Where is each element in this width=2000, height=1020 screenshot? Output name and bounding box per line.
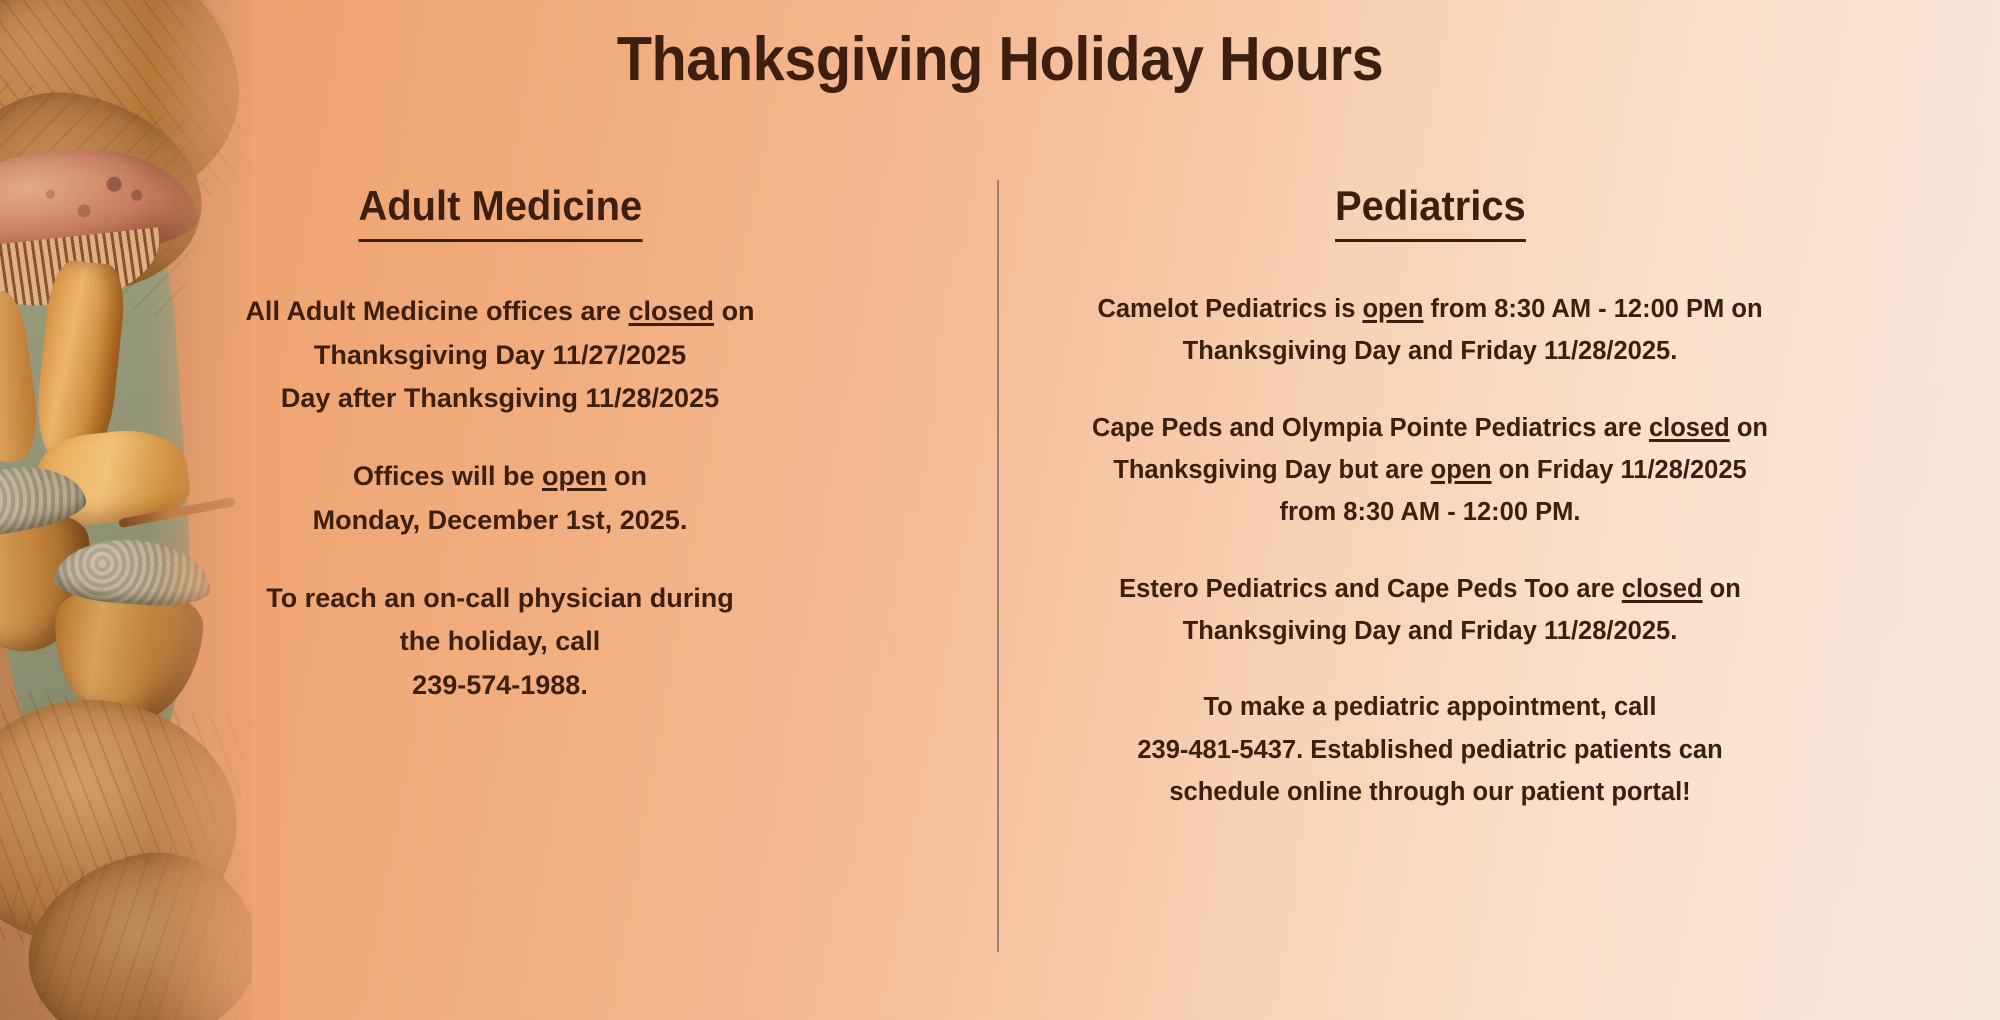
text-run: on [1703, 575, 1741, 603]
paragraph: Estero Pediatrics and Cape Peds Too are … [1030, 568, 1830, 653]
emphasis-text: open [1362, 295, 1423, 323]
adult-medicine-column: Adult Medicine All Adult Medicine office… [170, 182, 830, 708]
adult-medicine-body: All Adult Medicine offices are closed on… [170, 290, 830, 708]
emphasis-text: closed [1622, 575, 1703, 603]
column-divider [997, 180, 999, 952]
paragraph: Offices will be open onMonday, December … [170, 455, 830, 542]
text-run: 239-574-1988. [412, 670, 588, 700]
pediatrics-heading: Pediatrics [1335, 182, 1526, 242]
text-run: on [714, 296, 755, 326]
text-run: Thanksgiving Day and Friday 11/28/2025. [1183, 337, 1678, 365]
text-run: on [607, 461, 648, 491]
emphasis-text: open [542, 461, 607, 491]
text-run: Day after Thanksgiving 11/28/2025 [281, 383, 719, 413]
page-title: Thanksgiving Holiday Hours [70, 24, 1930, 95]
text-run: Offices will be [353, 461, 542, 491]
text-run: the holiday, call [400, 626, 601, 656]
paragraph: To reach an on-call physician duringthe … [170, 577, 830, 708]
text-run: on [1730, 414, 1768, 442]
pediatrics-column: Pediatrics Camelot Pediatrics is open fr… [1030, 182, 1830, 813]
text-run: Thanksgiving Day and Friday 11/28/2025. [1183, 617, 1678, 645]
emphasis-text: open [1431, 456, 1492, 484]
text-run: schedule online through our patient port… [1169, 778, 1690, 806]
text-run: from 8:30 AM - 12:00 PM on [1423, 295, 1762, 323]
paragraph: Cape Peds and Olympia Pointe Pediatrics … [1030, 407, 1830, 534]
text-run: Camelot Pediatrics is [1097, 295, 1362, 323]
text-run: Monday, December 1st, 2025. [313, 505, 688, 535]
text-run: Thanksgiving Day 11/27/2025 [314, 340, 686, 370]
text-run: To make a pediatric appointment, call [1204, 693, 1657, 721]
text-run: Estero Pediatrics and Cape Peds Too are [1119, 575, 1622, 603]
paragraph: All Adult Medicine offices are closed on… [170, 290, 830, 421]
adult-medicine-heading: Adult Medicine [358, 182, 642, 242]
emphasis-text: closed [629, 296, 715, 326]
text-run: All Adult Medicine offices are [245, 296, 628, 326]
text-run: Thanksgiving Day but are [1113, 456, 1430, 484]
text-run: 239-481-5437. Established pediatric pati… [1137, 736, 1722, 764]
text-run: from 8:30 AM - 12:00 PM. [1280, 498, 1581, 526]
text-run: Cape Peds and Olympia Pointe Pediatrics … [1092, 414, 1649, 442]
holiday-hours-poster: Thanksgiving Holiday Hours Adult Medicin… [0, 0, 2000, 1020]
pediatrics-body: Camelot Pediatrics is open from 8:30 AM … [1030, 288, 1830, 813]
text-run: To reach an on-call physician during [266, 583, 734, 613]
text-run: on Friday 11/28/2025 [1492, 456, 1747, 484]
paragraph: Camelot Pediatrics is open from 8:30 AM … [1030, 288, 1830, 373]
paragraph: To make a pediatric appointment, call239… [1030, 686, 1830, 813]
emphasis-text: closed [1649, 414, 1730, 442]
